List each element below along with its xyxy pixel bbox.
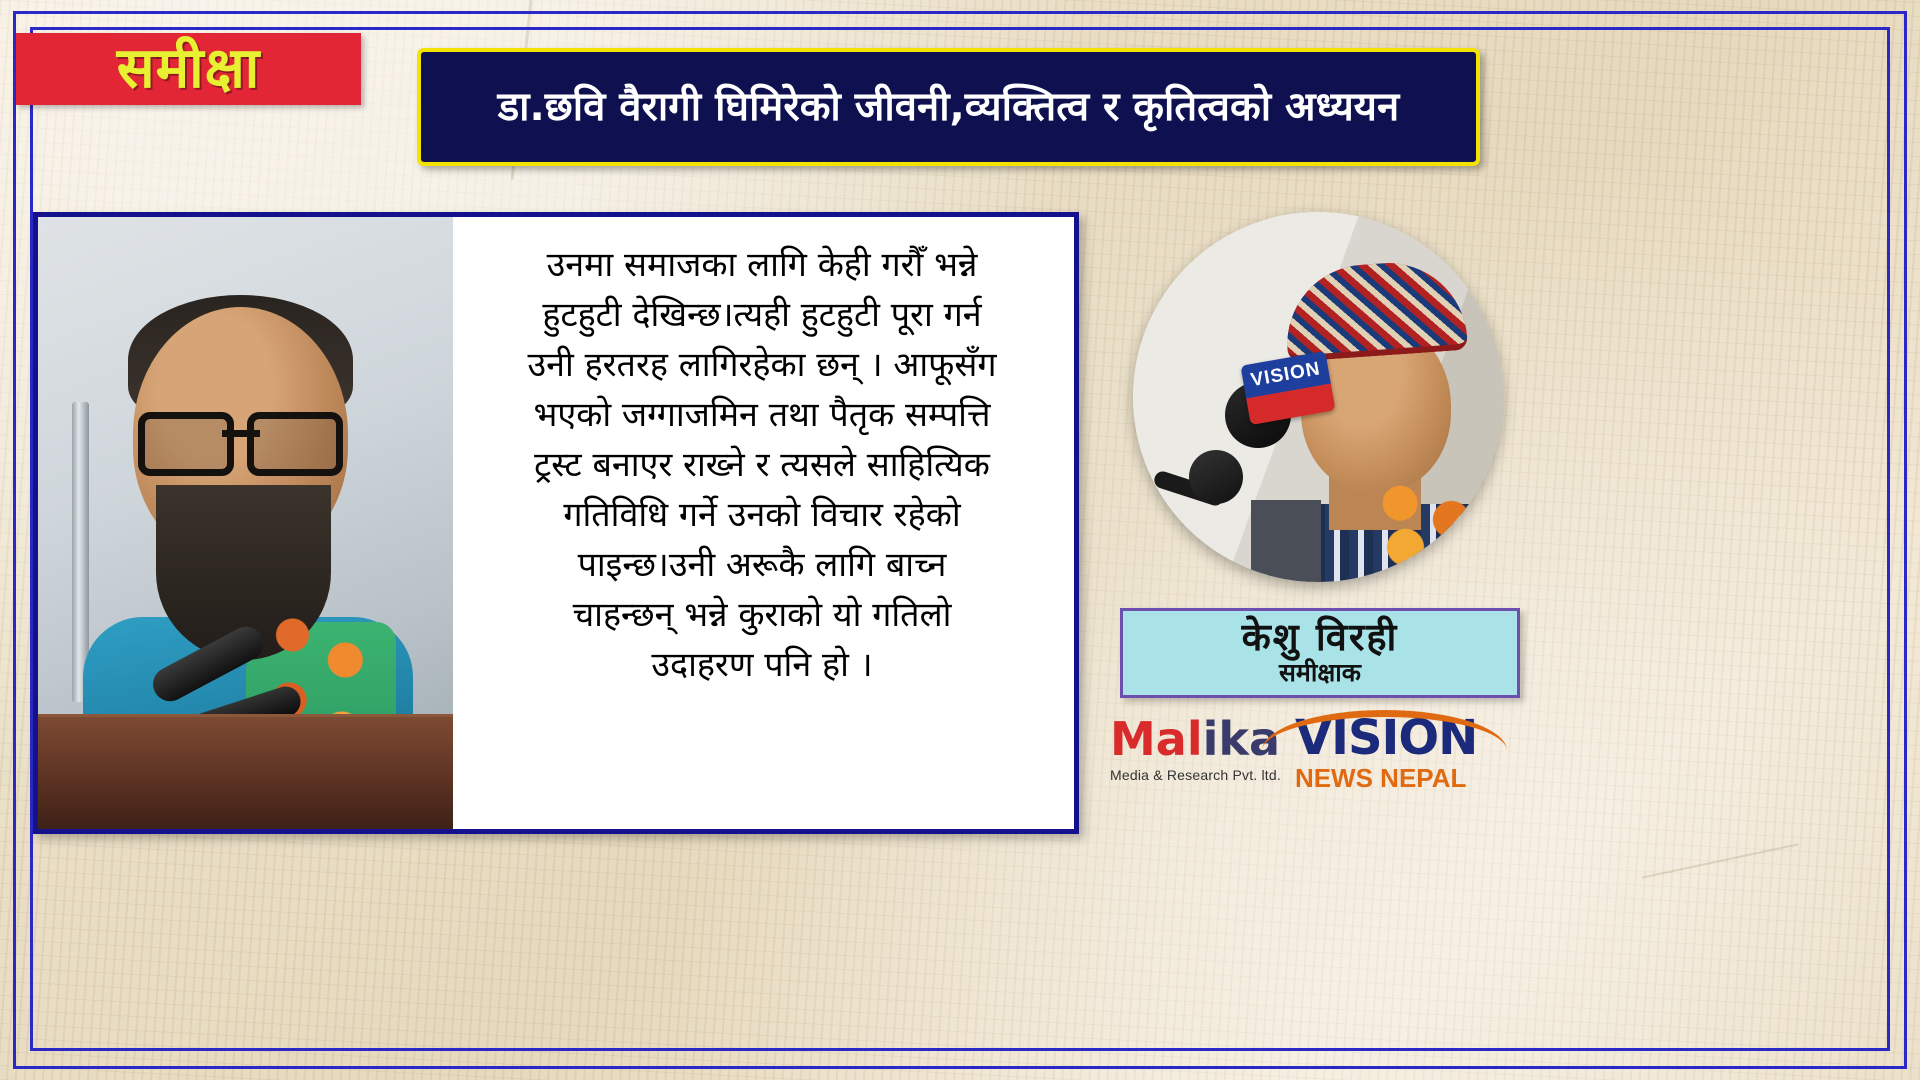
portrait-vest [1251,500,1321,582]
reviewer-portrait: VISION [1133,212,1503,582]
headline-title: डा.छवि वैरागी घिमिरेको जीवनी,व्यक्तित्व … [498,84,1399,130]
reviewer-name: केशु विरही [1242,618,1399,658]
category-badge-label: समीक्षा [117,41,261,97]
reviewer-role: समीक्षाक [1279,658,1361,688]
malika-logo-tagline: Media & Research Pvt. ltd. [1110,767,1281,783]
reviewer-name-box: केशु विरही समीक्षाक [1120,608,1520,698]
category-badge: समीक्षा [16,33,361,105]
speaker-photo [38,217,453,829]
article-card: उनमा समाजका लागि केही गरौँ भन्ने हुटहुटी… [33,212,1079,834]
podium [38,717,453,829]
malika-logo: Malika Media & Research Pvt. ltd. [1110,712,1281,783]
article-body-text: उनमा समाजका लागि केही गरौँ भन्ने हुटहुटी… [453,241,1071,691]
poster-canvas: समीक्षा डा.छवि वैरागी घिमिरेको जीवनी,व्य… [0,0,1920,1080]
logo-strip: Malika Media & Research Pvt. ltd. VISION… [1110,712,1530,817]
marigold-garland [1365,480,1500,582]
eyeglasses-icon [138,412,343,464]
microphone-icon [1189,450,1243,504]
headline-bar: डा.छवि वैरागी घिमिरेको जीवनी,व्यक्तित्व … [417,48,1480,166]
malika-logo-wordmark: Malika [1110,716,1280,762]
malika-logo-part-a: Mal [1110,712,1203,766]
vision-logo-tagline: NEWS NEPAL [1295,764,1466,793]
vision-news-logo: VISION NEWS NEPAL [1295,712,1477,793]
